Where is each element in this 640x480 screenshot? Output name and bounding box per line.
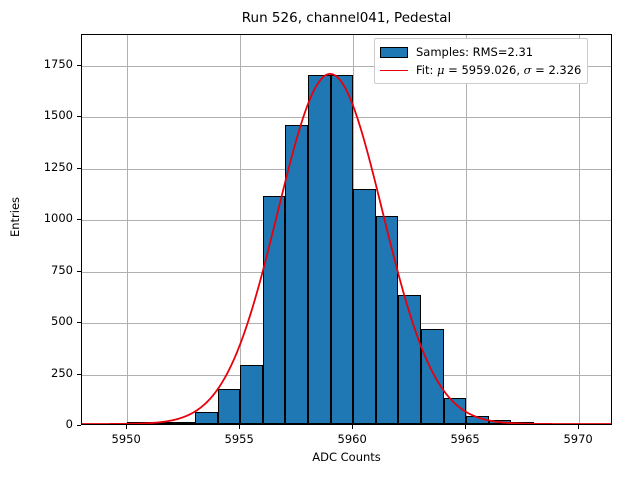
x-axis-tick-label: 5960 [317, 432, 387, 446]
y-axis-tick [77, 168, 81, 169]
legend-fit-sigma-value: = 2.326 [532, 63, 582, 77]
y-axis-tick-label: 1250 [11, 160, 73, 174]
x-axis-tick [352, 425, 353, 429]
chart-figure: Run 526, channel041, Pedestal Entries AD… [0, 0, 640, 480]
x-axis-tick [239, 425, 240, 429]
legend-swatch-bar-icon [380, 47, 408, 58]
x-axis-tick-label: 5950 [91, 432, 161, 446]
page-title: Run 526, channel041, Pedestal [81, 10, 612, 26]
y-axis-tick-label: 1000 [11, 211, 73, 225]
y-axis-tick-label: 250 [11, 366, 73, 380]
legend-fit-sigma-symbol: σ [524, 63, 532, 77]
legend-fit-mu-value: = 5959.026, [445, 63, 524, 77]
legend-item-samples: Samples: RMS=2.31 [380, 43, 581, 61]
legend-fit-mu-symbol: μ [437, 63, 444, 77]
legend: Samples: RMS=2.31 Fit: μ = 5959.026, σ =… [374, 38, 588, 84]
y-axis-tick-label: 1500 [11, 108, 73, 122]
x-axis-tick [126, 425, 127, 429]
y-axis-tick-label: 0 [11, 417, 73, 431]
y-axis-tick [77, 219, 81, 220]
x-axis-tick-label: 5955 [204, 432, 274, 446]
legend-swatch-line-icon [380, 70, 408, 71]
legend-fit-prefix: Fit: [416, 63, 437, 77]
y-axis-tick [77, 374, 81, 375]
legend-item-fit: Fit: μ = 5959.026, σ = 2.326 [380, 61, 581, 79]
y-axis-tick [77, 271, 81, 272]
y-axis-tick [77, 65, 81, 66]
x-axis-tick [465, 425, 466, 429]
y-axis-tick [77, 425, 81, 426]
y-axis-tick-label: 500 [11, 314, 73, 328]
legend-label-fit: Fit: μ = 5959.026, σ = 2.326 [416, 63, 581, 77]
y-axis-tick-label: 750 [11, 263, 73, 277]
x-axis-title: ADC Counts [81, 450, 612, 464]
legend-label-samples: Samples: RMS=2.31 [416, 45, 533, 59]
x-axis-tick-label: 5965 [430, 432, 500, 446]
y-axis-tick [77, 116, 81, 117]
y-axis-tick-label: 1750 [11, 57, 73, 71]
fit-curve [82, 35, 611, 424]
x-axis-tick [578, 425, 579, 429]
x-axis-tick-label: 5970 [543, 432, 613, 446]
y-axis-tick [77, 322, 81, 323]
plot-area [81, 34, 612, 425]
